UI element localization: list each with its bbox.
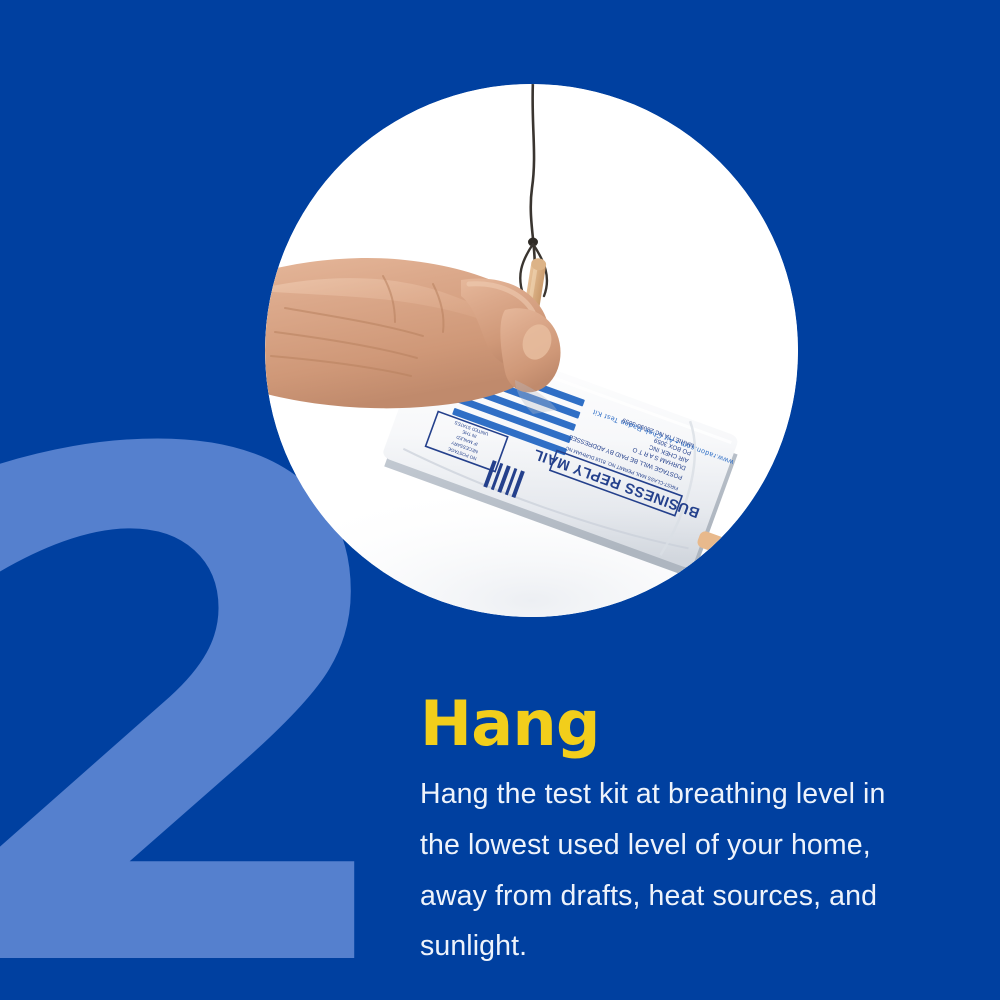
page-title: Hang bbox=[420, 692, 920, 755]
photo-illustration: NO POSTAGE NECESSARY IF MAILED IN THE UN… bbox=[265, 84, 798, 617]
copy-block: Hang Hang the test kit at breathing leve… bbox=[420, 692, 920, 972]
instruction-text: Hang the test kit at breathing level in … bbox=[420, 769, 895, 972]
step-photo: NO POSTAGE NECESSARY IF MAILED IN THE UN… bbox=[265, 84, 798, 617]
instruction-card: 2 bbox=[0, 0, 1000, 1000]
